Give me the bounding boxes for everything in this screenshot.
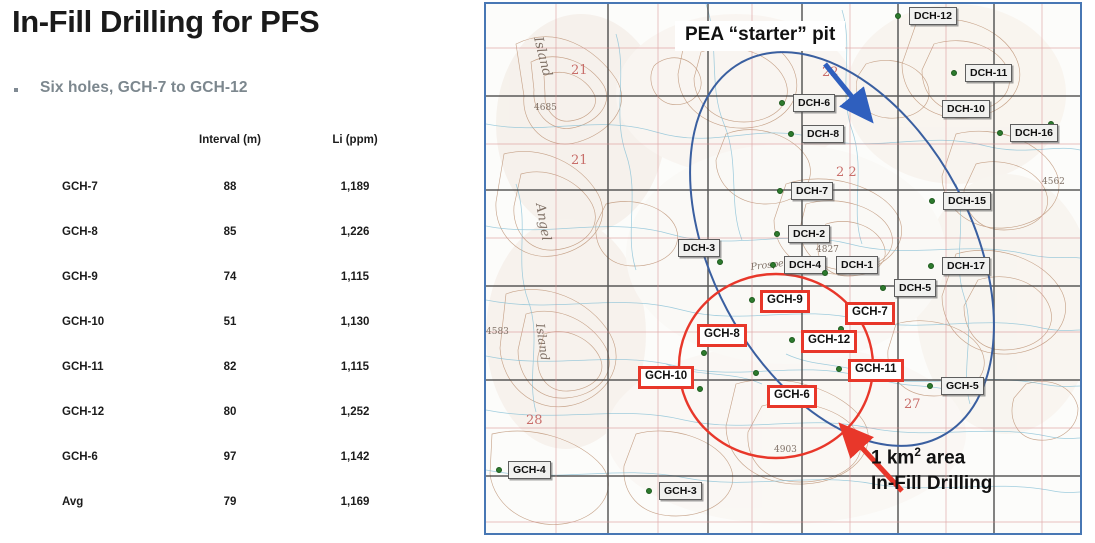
cell-hole: GCH-7: [0, 164, 170, 209]
cell-li: 1,115: [290, 344, 420, 389]
map-label-highlight-gch-6[interactable]: GCH-6: [767, 385, 817, 408]
map-label-dch-10[interactable]: DCH-10: [942, 100, 990, 118]
drill-hole-dot-gch-6: [753, 370, 759, 376]
map-label-highlight-gch-10[interactable]: GCH-10: [638, 366, 694, 389]
cell-li: 1,130: [290, 299, 420, 344]
map-label-dch-15[interactable]: DCH-15: [943, 192, 991, 210]
map-label-dch-12[interactable]: DCH-12: [909, 7, 957, 25]
map-label-dch-11[interactable]: DCH-11: [965, 64, 1012, 82]
table-header-row: Interval (m) Li (ppm): [0, 134, 420, 164]
map-label-highlight-gch-9[interactable]: GCH-9: [760, 290, 810, 313]
drill-hole-dot-gch-9: [749, 297, 755, 303]
drill-hole-dot-gch-11: [836, 366, 842, 372]
table-row: GCH-8851,226: [0, 209, 420, 254]
page-title: In-Fill Drilling for PFS: [12, 4, 319, 40]
map-label-gch-5[interactable]: GCH-5: [941, 377, 984, 395]
cell-interval: 85: [170, 209, 290, 254]
cell-li: 1,142: [290, 434, 420, 479]
drill-hole-dot-gch-12: [789, 337, 795, 343]
cell-li: 1,169: [290, 479, 420, 524]
drill-hole-dot-dch-11: [951, 70, 957, 76]
cell-li: 1,252: [290, 389, 420, 434]
drill-hole-dot-dch-12: [895, 13, 901, 19]
cell-interval: 79: [170, 479, 290, 524]
table-row: GCH-11821,115: [0, 344, 420, 389]
drill-hole-dot-dch-16: [997, 130, 1003, 136]
map-label-dch-16[interactable]: DCH-16: [1010, 124, 1058, 142]
drill-hole-marker-layer: DCH-12DCH-11DCH-10DCH-16DCH-6DCH-8DCH-7D…: [486, 4, 1080, 533]
cell-interval: 82: [170, 344, 290, 389]
col-header-li: Li (ppm): [290, 134, 420, 164]
table-row: GCH-9741,115: [0, 254, 420, 299]
bullet-row: Six holes, GCH-7 to GCH-12: [14, 79, 434, 97]
drill-hole-dot-dch-1: [822, 270, 828, 276]
cell-interval: 51: [170, 299, 290, 344]
map-label-highlight-gch-7[interactable]: GCH-7: [845, 302, 895, 325]
map-label-dch-17[interactable]: DCH-17: [942, 257, 990, 275]
map-label-dch-4[interactable]: DCH-4: [784, 256, 826, 274]
drill-hole-dot-dch-8: [788, 131, 794, 137]
cell-interval: 74: [170, 254, 290, 299]
cell-hole: GCH-11: [0, 344, 170, 389]
drill-hole-dot-dch-2: [774, 231, 780, 237]
map-label-highlight-gch-8[interactable]: GCH-8: [697, 324, 747, 347]
drill-hole-dot-gch-4: [496, 467, 502, 473]
bullet-dot-icon: [14, 88, 18, 92]
col-header-hole: [0, 134, 170, 164]
table-body: GCH-7881,189GCH-8851,226GCH-9741,115GCH-…: [0, 164, 420, 524]
cell-interval: 88: [170, 164, 290, 209]
map-label-dch-5[interactable]: DCH-5: [894, 279, 936, 297]
map-label-dch-8[interactable]: DCH-8: [802, 125, 844, 143]
map-label-dch-6[interactable]: DCH-6: [793, 94, 835, 112]
cell-li: 1,189: [290, 164, 420, 209]
drill-location-map: Island Angel Island Prospect 4685 4583 4…: [484, 2, 1082, 535]
cell-li: 1,226: [290, 209, 420, 254]
drill-hole-dot-gch-5: [927, 383, 933, 389]
drill-hole-dot-dch-3: [717, 259, 723, 265]
map-label-dch-1[interactable]: DCH-1: [836, 256, 878, 274]
col-header-interval: Interval (m): [170, 134, 290, 164]
table-row: GCH-12801,252: [0, 389, 420, 434]
drill-hole-dot-gch-8: [701, 350, 707, 356]
slide-left-panel: In-Fill Drilling for PFS Six holes, GCH-…: [0, 0, 484, 543]
drill-hole-dot-dch-7: [777, 188, 783, 194]
cell-interval: 97: [170, 434, 290, 479]
table-row: GCH-10511,130: [0, 299, 420, 344]
drill-hole-dot-dch-17: [928, 263, 934, 269]
map-label-dch-3[interactable]: DCH-3: [678, 239, 720, 257]
map-label-highlight-gch-11[interactable]: GCH-11: [848, 359, 904, 382]
cell-hole: GCH-6: [0, 434, 170, 479]
map-label-gch-4[interactable]: GCH-4: [508, 461, 551, 479]
table-row: Avg791,169: [0, 479, 420, 524]
map-label-highlight-gch-12[interactable]: GCH-12: [801, 330, 857, 353]
map-label-gch-3[interactable]: GCH-3: [659, 482, 702, 500]
table-row: GCH-7881,189: [0, 164, 420, 209]
cell-hole: GCH-9: [0, 254, 170, 299]
cell-hole: GCH-10: [0, 299, 170, 344]
cell-li: 1,115: [290, 254, 420, 299]
drill-hole-dot-dch-6: [779, 100, 785, 106]
cell-hole: GCH-8: [0, 209, 170, 254]
drill-results-table: Interval (m) Li (ppm) GCH-7881,189GCH-88…: [0, 134, 420, 524]
map-label-dch-7[interactable]: DCH-7: [791, 182, 833, 200]
cell-hole: GCH-12: [0, 389, 170, 434]
drill-hole-dot-dch-15: [929, 198, 935, 204]
drill-hole-dot-gch-10: [697, 386, 703, 392]
map-label-dch-2[interactable]: DCH-2: [788, 225, 830, 243]
drill-hole-dot-gch-3: [646, 488, 652, 494]
drill-hole-dot-dch-4: [770, 262, 776, 268]
table-row: GCH-6971,142: [0, 434, 420, 479]
bullet-text: Six holes, GCH-7 to GCH-12: [40, 79, 248, 97]
cell-interval: 80: [170, 389, 290, 434]
cell-hole: Avg: [0, 479, 170, 524]
drill-hole-dot-dch-5: [880, 285, 886, 291]
